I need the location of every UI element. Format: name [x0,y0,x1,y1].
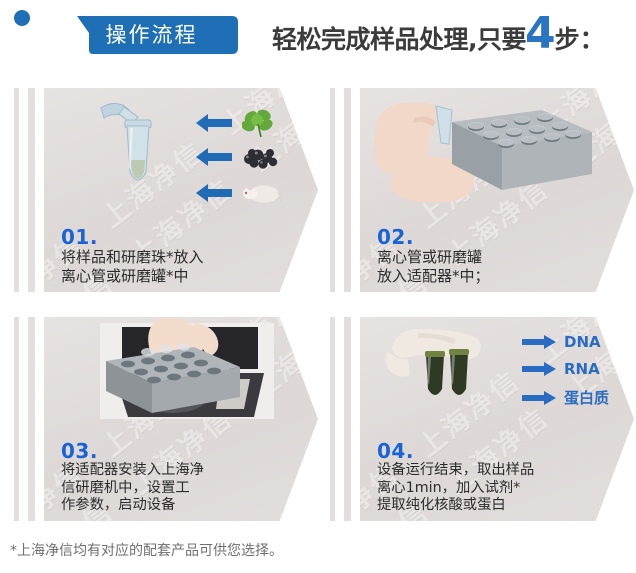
right-arrow-icon [522,362,556,376]
hand-loading-grinder-icon [44,317,294,429]
step-line: 放入适配器*中； [377,267,600,286]
step-line: 作参数，启动设备 [61,497,284,515]
leaf-icon [242,108,276,138]
section-badge-label: 操作流程 [31,14,238,54]
infographic-page: 操作流程 轻松完成样品处理,只要 4 步 ： 上海净信 上海净信 上海净信 上海… [0,0,636,573]
step-cell-03: 上海净信 上海净信 上海净信 上海净信 上海净信 上海净信 [0,317,318,521]
step-number: 03. [61,441,284,462]
step-04-illustration: DNA RNA 蛋白质 [360,317,634,421]
page-title-part1: 轻松完成样品处理,只要 [272,20,526,56]
page-title-part2: 步 [555,20,580,56]
sample-row-beads [194,145,278,169]
decorative-stripe [14,88,19,292]
step-02-illustration [360,88,634,208]
decorative-stripe [330,317,335,521]
step-01-illustration [44,88,318,208]
step-number: 04. [377,441,600,462]
left-arrow-icon [194,183,234,203]
step-line: 提取纯化核酸或蛋白 [377,497,600,515]
decorative-stripe [344,317,351,521]
step-03-text: 03. 将适配器安装入上海净 信研磨机中，设置工 作参数，启动设备 [61,441,284,515]
step-cell-04: 上海净信 上海净信 上海净信 上海净信 上海净信 上海净信 [316,317,634,521]
step-04-text: 04. 设备运行结束，取出样品 离心1min，加入试剂* 提取纯化核酸或蛋白 [377,441,600,515]
step-line: 离心1min，加入试剂* [377,480,600,498]
output-label: DNA [564,333,601,351]
left-arrow-icon [194,113,234,133]
step-number: 01. [61,227,284,248]
sample-row-mouse [194,181,282,205]
decorative-stripe [344,88,351,292]
decorative-stripe [330,88,335,292]
left-arrow-icon [194,147,234,167]
step-cell-02: 上海净信 上海净信 上海净信 上海净信 上海净信 上海净信 [316,88,634,292]
decorative-stripe [14,317,19,521]
decorative-stripe [28,88,35,292]
page-title-part3: ： [580,20,605,56]
centrifuge-tube-icon [96,98,172,210]
step-01-text: 01. 将样品和研磨珠*放入 离心管或研磨罐*中 [61,227,284,286]
step-line: 将样品和研磨珠*放入 [61,248,284,267]
header: 操作流程 轻松完成样品处理,只要 4 步 ： [0,0,636,76]
step-panel-03: 上海净信 上海净信 上海净信 上海净信 上海净信 上海净信 [44,317,318,521]
footnote: *上海净信均有对应的配套产品可供您选择。 [10,540,283,560]
right-arrow-icon [522,391,556,405]
hand-holding-adapter-block-icon [360,88,620,210]
output-label: 蛋白质 [564,387,609,408]
step-cell-01: 上海净信 上海净信 上海净信 上海净信 上海净信 上海净信 [0,88,318,292]
decorative-stripe [28,317,35,521]
step-panel-02: 上海净信 上海净信 上海净信 上海净信 上海净信 上海净信 [360,88,634,292]
steps-grid: 上海净信 上海净信 上海净信 上海净信 上海净信 上海净信 [0,88,636,520]
grinding-beads-icon [242,145,278,169]
page-title: 轻松完成样品处理,只要 4 步 ： [272,16,605,56]
decorative-dot [14,10,30,26]
step-line: 离心管或研磨罐 [377,248,600,267]
gloved-hand-with-tubes-icon [378,321,518,425]
step-panel-04: 上海净信 上海净信 上海净信 上海净信 上海净信 上海净信 [360,317,634,521]
step-line: 信研磨机中，设置工 [61,480,284,498]
mouse-icon [242,181,282,205]
step-line: 设备运行结束，取出样品 [377,462,600,480]
right-arrow-icon [522,335,556,349]
output-label: RNA [564,360,600,378]
output-row-rna: RNA [522,360,600,378]
sample-row-plant [194,108,276,138]
step-02-text: 02. 离心管或研磨罐 放入适配器*中； [377,227,600,286]
output-row-dna: DNA [522,333,601,351]
step-line: 将适配器安装入上海净 [61,462,284,480]
step-03-illustration [44,317,318,429]
step-panel-01: 上海净信 上海净信 上海净信 上海净信 上海净信 上海净信 [44,88,318,292]
step-number: 02. [377,227,600,248]
output-row-protein: 蛋白质 [522,387,609,408]
page-title-number: 4 [525,16,556,51]
step-line: 离心管或研磨罐*中 [61,267,284,286]
